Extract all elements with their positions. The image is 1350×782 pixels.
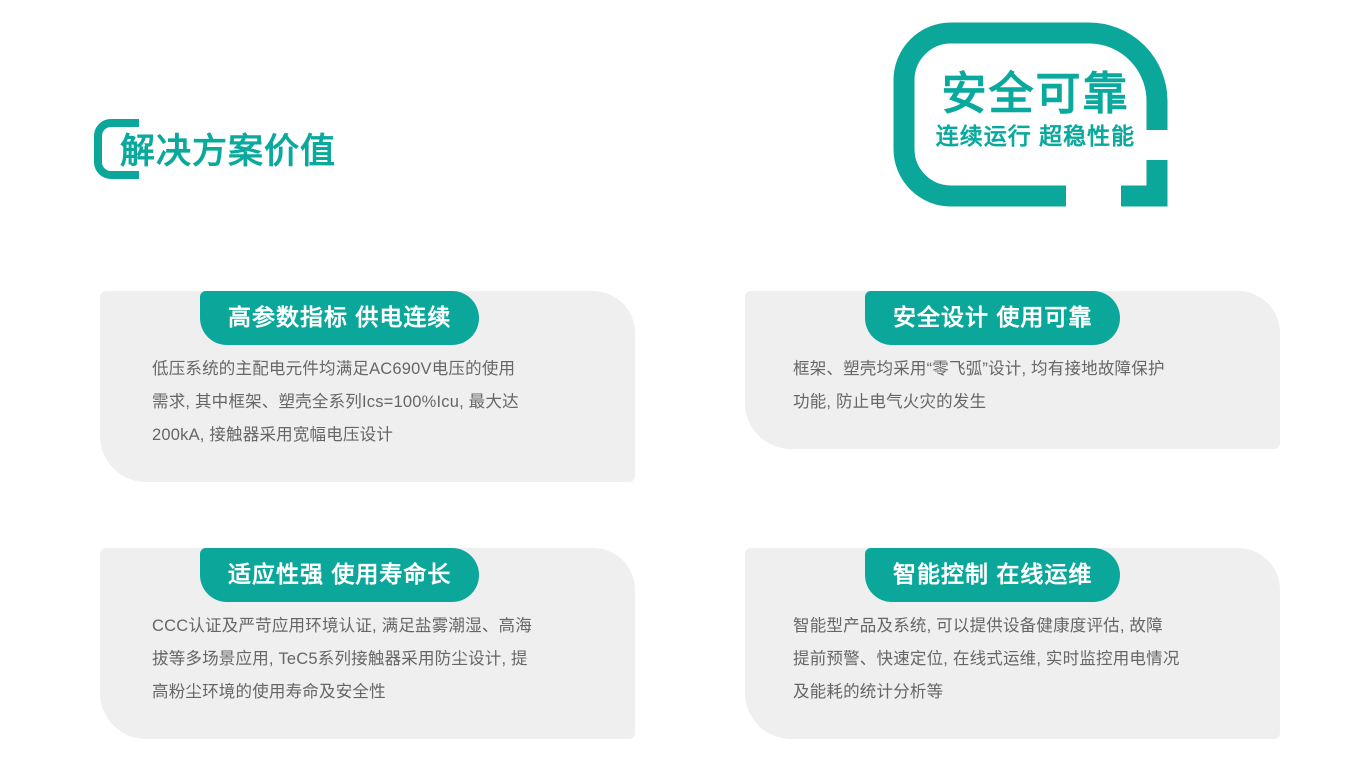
card-smart-control: 智能控制 在线运维 智能型产品及系统, 可以提供设备健康度评估, 故障 提前预警…	[745, 548, 1280, 739]
card-safe-design: 安全设计 使用可靠 框架、塑壳均采用“零飞弧”设计, 均有接地故障保护 功能, …	[745, 291, 1280, 482]
brandmark: 安全可靠 连续运行 超稳性能	[893, 22, 1178, 207]
bracket-frame-icon	[893, 22, 1178, 207]
card-description: 智能型产品及系统, 可以提供设备健康度评估, 故障 提前预警、快速定位, 在线式…	[793, 610, 1246, 709]
card-header: 智能控制 在线运维	[865, 548, 1120, 602]
card-adaptability: 适应性强 使用寿命长 CCC认证及严苛应用环境认证, 满足盐雾潮湿、高海 拔等多…	[100, 548, 635, 739]
card-header: 安全设计 使用可靠	[865, 291, 1120, 345]
card-description: 框架、塑壳均采用“零飞弧”设计, 均有接地故障保护 功能, 防止电气火灾的发生	[793, 353, 1246, 419]
card-header: 适应性强 使用寿命长	[200, 548, 479, 602]
card-row: 适应性强 使用寿命长 CCC认证及严苛应用环境认证, 满足盐雾潮湿、高海 拔等多…	[100, 548, 1280, 739]
cards-grid: 高参数指标 供电连续 低压系统的主配电元件均满足AC690V电压的使用 需求, …	[100, 291, 1280, 739]
card-high-parameters: 高参数指标 供电连续 低压系统的主配电元件均满足AC690V电压的使用 需求, …	[100, 291, 635, 482]
card-row: 高参数指标 供电连续 低压系统的主配电元件均满足AC690V电压的使用 需求, …	[100, 291, 1280, 482]
card-header: 高参数指标 供电连续	[200, 291, 479, 345]
page-title: 解决方案价值	[120, 130, 336, 169]
card-description: CCC认证及严苛应用环境认证, 满足盐雾潮湿、高海 拔等多场景应用, TeC5系…	[152, 610, 601, 709]
section-heading: 解决方案价值	[93, 110, 336, 188]
card-description: 低压系统的主配电元件均满足AC690V电压的使用 需求, 其中框架、塑壳全系列I…	[152, 353, 601, 452]
